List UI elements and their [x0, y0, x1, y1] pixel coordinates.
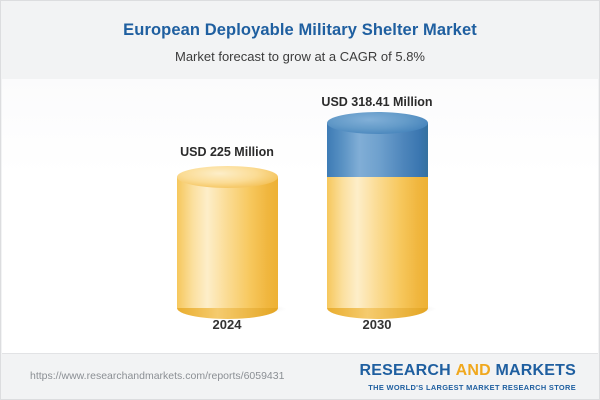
brand-logo-tagline: THE WORLD'S LARGEST MARKET RESEARCH STOR… [360, 383, 576, 392]
bar-cylinder-2030[interactable] [327, 123, 428, 308]
logo-word-research: RESEARCH [360, 362, 451, 379]
bar-segment-growth-2030 [327, 123, 428, 177]
bar-segment-base-2024 [177, 177, 278, 308]
logo-word-and: AND [456, 362, 491, 379]
cylinder-top-cap-2030 [327, 112, 428, 134]
bar-value-label-2030: USD 318.41 Million [307, 95, 447, 109]
bar-group-2030: USD 318.41 Million 2030 [307, 79, 447, 353]
source-url-link[interactable]: https://www.researchandmarkets.com/repor… [30, 370, 284, 382]
cylinder-body-base-2030 [327, 177, 428, 308]
bar-group-2024: USD 225 Million 2024 [157, 79, 297, 353]
infographic-card: European Deployable Military Shelter Mar… [0, 0, 600, 400]
chart-plot-area: USD 225 Million 2024 USD 318.41 Million [2, 79, 598, 353]
chart-footer: https://www.researchandmarkets.com/repor… [2, 353, 598, 400]
bar-segment-base-2030 [327, 177, 428, 308]
chart-subtitle: Market forecast to grow at a CAGR of 5.8… [1, 40, 599, 64]
logo-word-markets: MARKETS [495, 362, 576, 379]
category-label-2030: 2030 [307, 317, 447, 332]
chart-header: European Deployable Military Shelter Mar… [1, 1, 599, 79]
bar-cylinder-2024[interactable] [177, 177, 278, 308]
bar-value-label-2024: USD 225 Million [157, 145, 297, 159]
brand-logo[interactable]: RESEARCH AND MARKETS THE WORLD'S LARGEST… [360, 362, 576, 392]
category-label-2024: 2024 [157, 317, 297, 332]
chart-title: European Deployable Military Shelter Mar… [1, 1, 599, 40]
cylinder-body-2024 [177, 177, 278, 308]
brand-logo-wordmark: RESEARCH AND MARKETS [360, 362, 576, 380]
